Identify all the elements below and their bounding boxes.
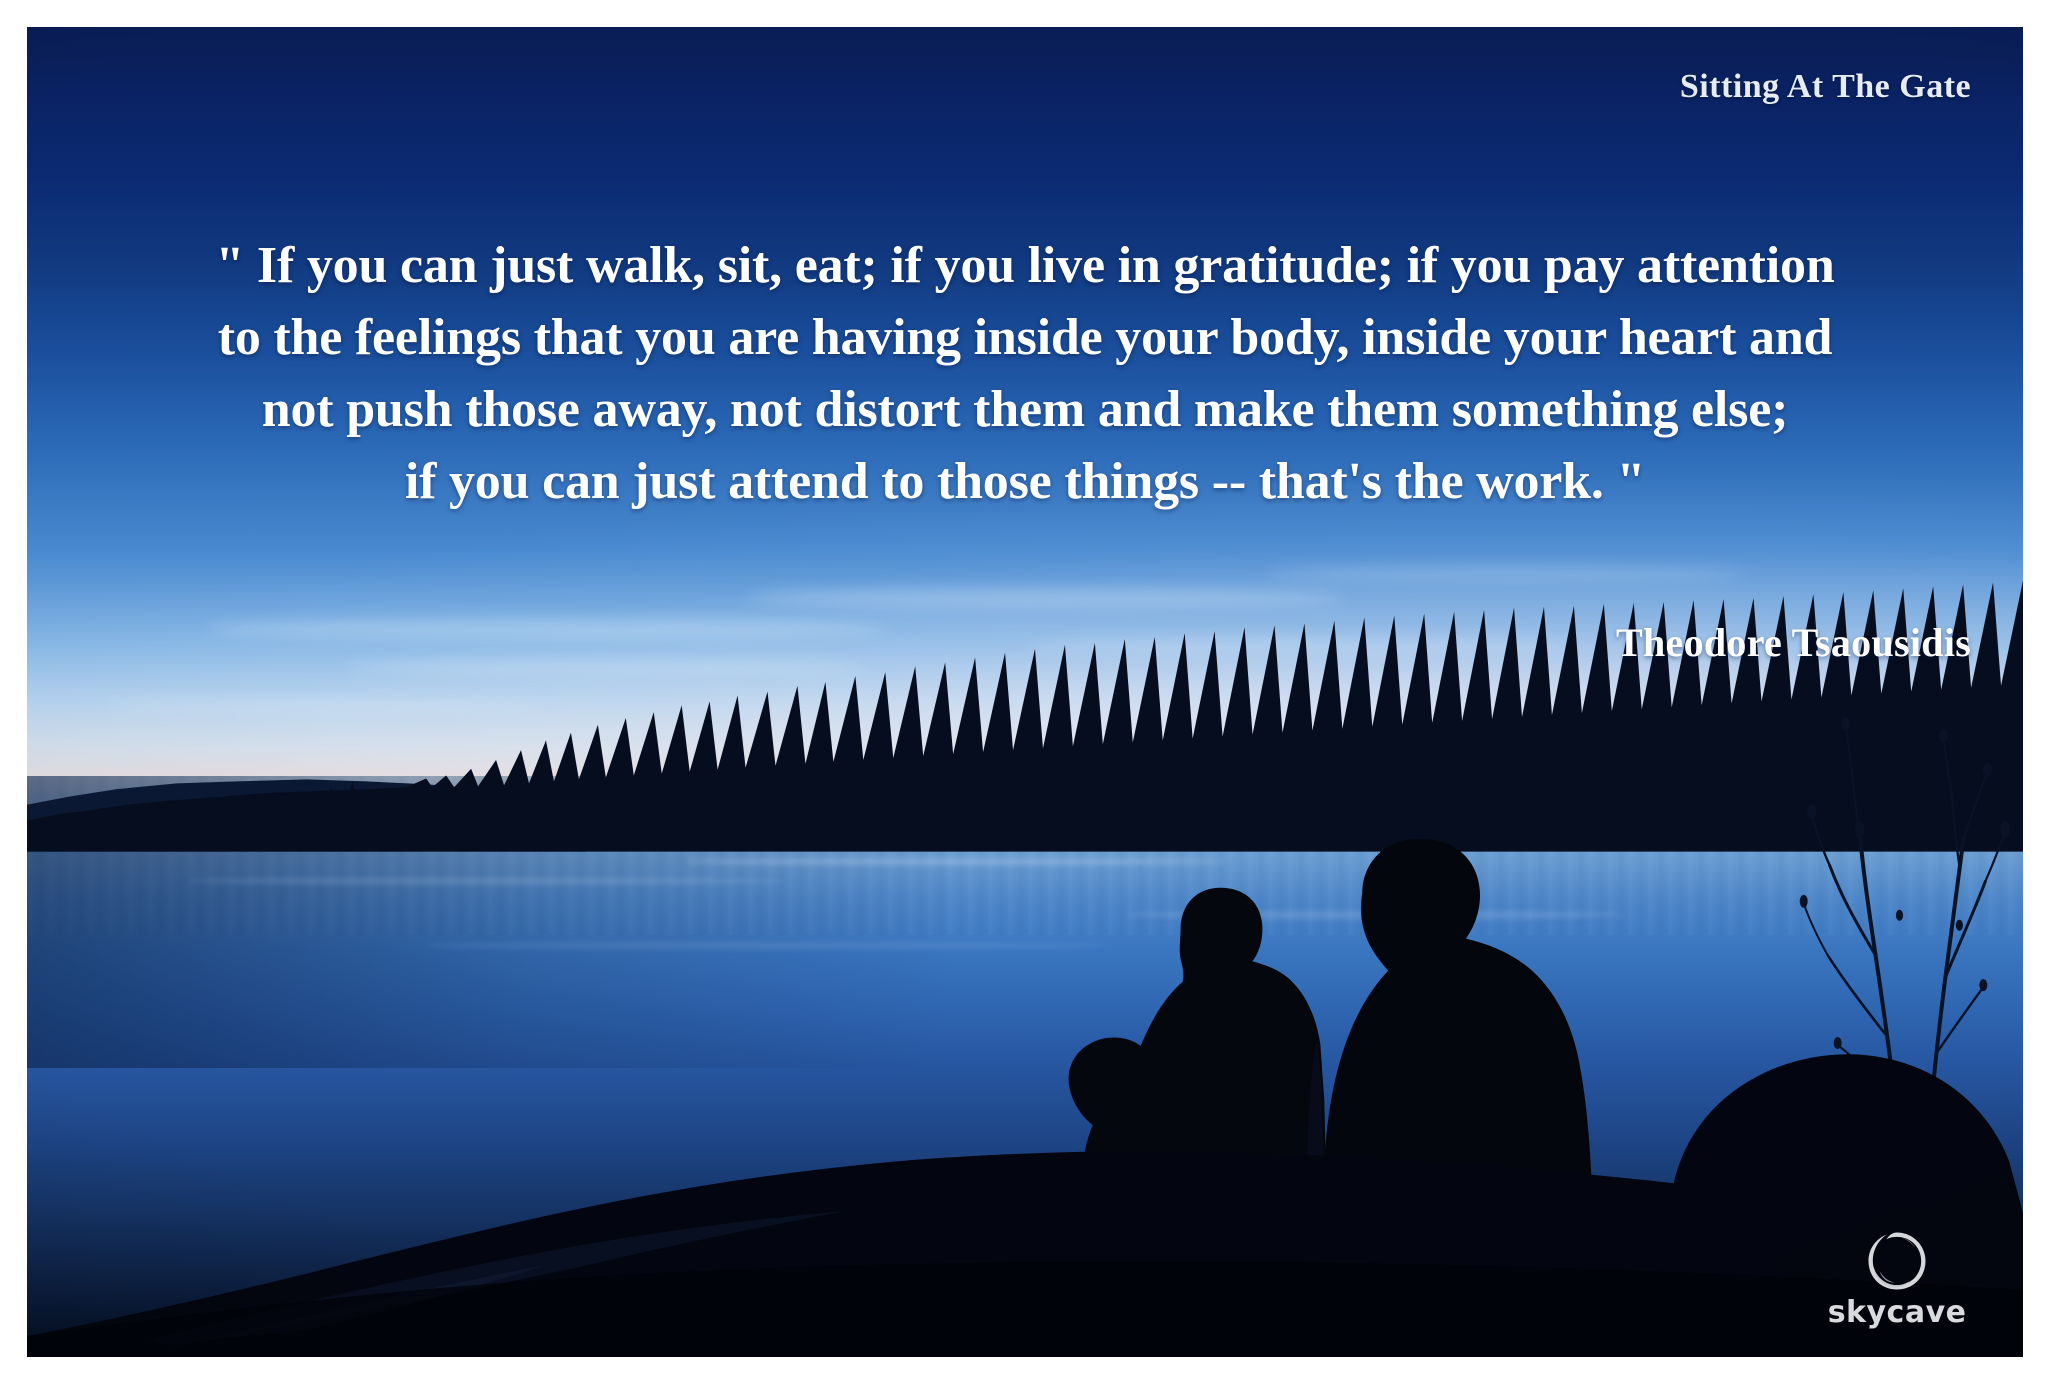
quote-line: to the feelings that you are having insi… <box>49 302 2001 374</box>
quote-line: if you can just attend to those things -… <box>49 446 2001 518</box>
poster-frame: Sitting At The Gate " If you can just wa… <box>0 0 2048 1385</box>
enso-circle-icon <box>1866 1230 1928 1292</box>
quote-line: not push those away, not distort them an… <box>49 374 2001 446</box>
quote-line: " If you can just walk, sit, eat; if you… <box>49 230 2001 302</box>
quote-author: Theodore Tsaousidis <box>1616 619 1971 666</box>
skycave-logo[interactable]: skycave <box>1817 1230 1977 1328</box>
foreground-rock <box>27 905 2023 1357</box>
page-title: Sitting At The Gate <box>1680 68 1971 106</box>
skycave-wordmark: skycave <box>1828 1298 1967 1328</box>
photo-canvas: Sitting At The Gate " If you can just wa… <box>27 27 2023 1357</box>
quote-block: " If you can just walk, sit, eat; if you… <box>49 230 2001 517</box>
